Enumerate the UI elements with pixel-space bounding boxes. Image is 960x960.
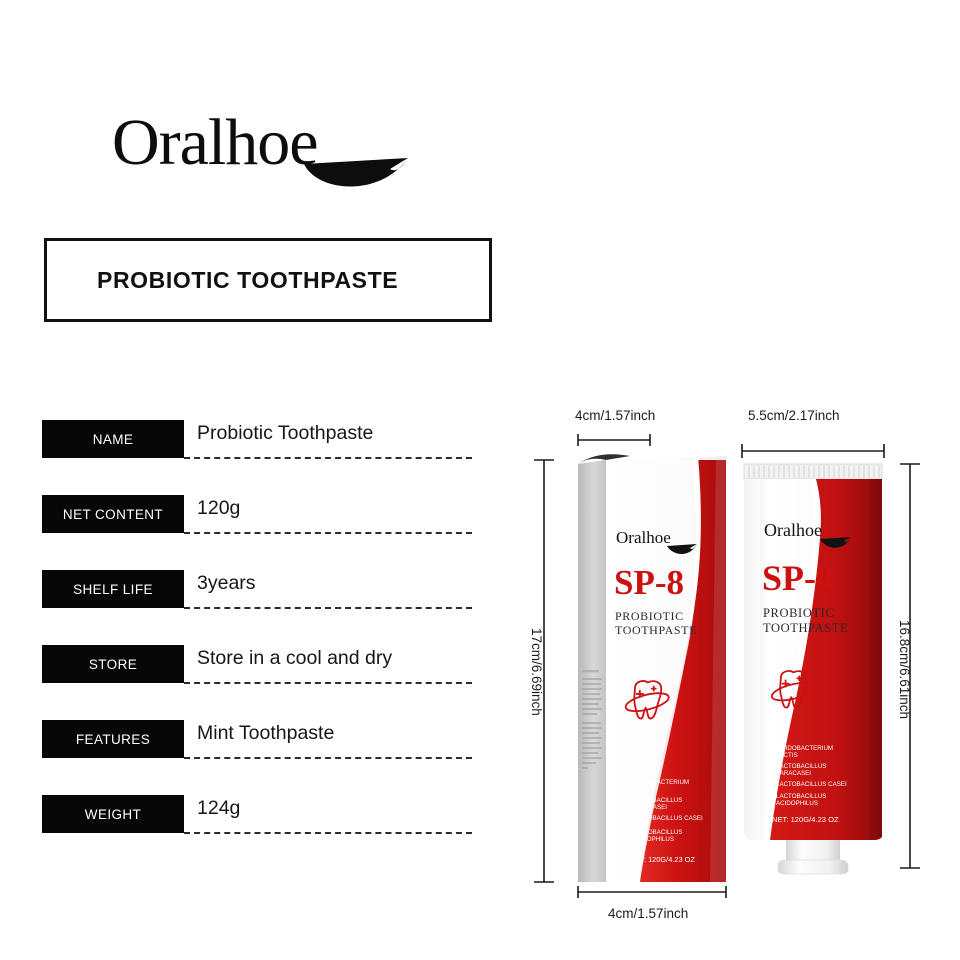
tube-subtitle-line2: TOOTHPASTE — [763, 621, 848, 635]
ingredient-item: LACTOBACILLUS CASEI — [632, 815, 703, 822]
table-row: WEIGHT 124g — [42, 795, 472, 870]
box-product-code: SP-8 — [614, 563, 684, 602]
ingredient-item: LACTOBACILLUS — [632, 829, 682, 836]
spec-value: 120g — [197, 497, 240, 520]
dimension-label: 5.5cm/2.17inch — [748, 408, 840, 423]
box-brand-text: Oralhoe — [616, 528, 671, 547]
dimension-label: 16.8cm/6.61inch — [897, 620, 912, 719]
box-subtitle-line1: PROBIOTIC — [615, 609, 684, 623]
spec-divider — [184, 607, 472, 609]
table-row: SHELF LIFE 3years — [42, 570, 472, 645]
dimension-label: 17cm/6.69inch — [529, 628, 544, 716]
ingredient-item: ACIDOPHILUS — [632, 836, 674, 843]
spec-divider — [184, 457, 472, 459]
brand-logo-text: Oralhoe — [112, 106, 318, 179]
svg-text:✦: ✦ — [624, 815, 629, 822]
svg-text:✦: ✦ — [624, 829, 629, 836]
product-tube: Oralhoe SP-8 PROBIOTIC TOOTHPASTE ✦ BIFI… — [744, 464, 882, 874]
spec-divider — [184, 532, 472, 534]
page-title: PROBIOTIC TOOTHPASTE — [47, 267, 398, 294]
svg-text:✦: ✦ — [624, 797, 629, 804]
ingredient-item: ACIDOPHILUS — [776, 800, 818, 807]
ingredient-item: LACTOBACILLUS — [776, 763, 826, 770]
spec-label: FEATURES — [42, 720, 184, 758]
spec-value: 3years — [197, 572, 256, 595]
svg-text:✦: ✦ — [768, 763, 773, 770]
spec-value: Mint Toothpaste — [197, 722, 334, 745]
ingredient-item: BIFIDOBACTERIUM — [632, 779, 689, 786]
dimension-label: 4cm/1.57inch — [608, 906, 688, 921]
spec-divider — [184, 757, 472, 759]
table-row: FEATURES Mint Toothpaste — [42, 720, 472, 795]
product-illustration: 4cm/1.57inch 5.5cm/2.17inch 17cm/6.69inc… — [520, 398, 940, 928]
dimension-box-width-bottom: 4cm/1.57inch — [578, 886, 726, 921]
box-subtitle-line2: TOOTHPASTE — [615, 623, 697, 637]
spec-value: 124g — [197, 797, 240, 820]
dimension-tube-width-top: 5.5cm/2.17inch — [742, 408, 884, 458]
oralhoe-swoosh-icon — [304, 158, 408, 187]
spec-value: Store in a cool and dry — [197, 647, 392, 670]
brand-logo: Oralhoe — [112, 106, 442, 196]
ingredient-item: LACTOBACILLUS — [632, 797, 682, 804]
ingredient-item: LACTOBACILLUS — [776, 793, 826, 800]
dimension-box-height-left: 17cm/6.69inch — [529, 460, 554, 882]
product-title-box: PROBIOTIC TOOTHPASTE — [44, 238, 492, 322]
product-box: Oralhoe SP-8 PROBIOTIC TOOTHPASTE ✦ BIFI… — [578, 454, 726, 882]
box-net-weight: NET: 120G/4.23 OZ — [630, 855, 695, 864]
ingredient-item: LACTOBACILLUS CASEI — [776, 781, 847, 788]
svg-text:✦: ✦ — [624, 779, 629, 786]
dimension-tube-height-right: 16.8cm/6.61inch — [897, 464, 920, 868]
dimension-box-width-top: 4cm/1.57inch — [575, 408, 655, 446]
spec-value: Probiotic Toothpaste — [197, 422, 373, 445]
spec-label: SHELF LIFE — [42, 570, 184, 608]
spec-label: NET CONTENT — [42, 495, 184, 533]
tube-shade-right — [870, 479, 882, 840]
tube-cap — [778, 840, 848, 874]
table-row: NAME Probiotic Toothpaste — [42, 420, 472, 495]
table-row: NET CONTENT 120g — [42, 495, 472, 570]
spec-label: STORE — [42, 645, 184, 683]
svg-text:✦: ✦ — [768, 793, 773, 800]
tube-brand-text: Oralhoe — [764, 520, 822, 540]
spec-label: WEIGHT — [42, 795, 184, 833]
tube-subtitle-line1: PROBIOTIC — [763, 606, 834, 620]
ingredient-item: BIFIDOBACTERIUM — [776, 745, 833, 752]
table-row: STORE Store in a cool and dry — [42, 645, 472, 720]
svg-text:✦: ✦ — [768, 781, 773, 788]
tube-crimp-seal — [744, 464, 882, 479]
spec-divider — [184, 832, 472, 834]
spec-divider — [184, 682, 472, 684]
ingredient-item: LACTIS — [632, 786, 654, 793]
ingredient-item: PARACASEI — [776, 770, 811, 777]
svg-text:✦: ✦ — [768, 745, 773, 752]
tube-gloss-left — [744, 479, 760, 840]
ingredient-item: PARACASEI — [632, 804, 667, 811]
spec-label: NAME — [42, 420, 184, 458]
tube-net-weight: NET: 120G/4.23 OZ — [772, 815, 839, 824]
ingredient-item: LACTIS — [776, 752, 798, 759]
dimension-label: 4cm/1.57inch — [575, 408, 655, 423]
tube-product-code: SP-8 — [762, 558, 834, 598]
specification-table: NAME Probiotic Toothpaste NET CONTENT 12… — [42, 420, 472, 870]
